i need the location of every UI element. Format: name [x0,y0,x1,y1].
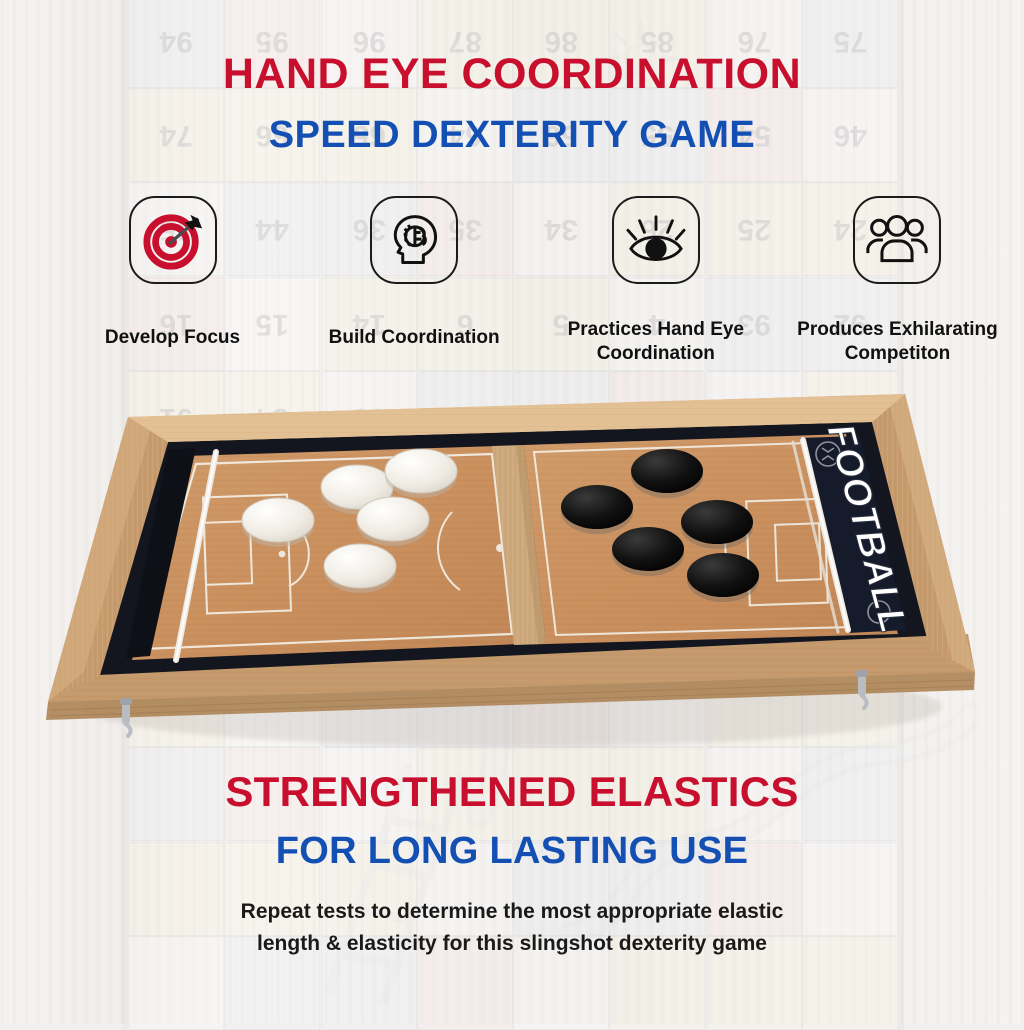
feature-build-coordination: Build Coordination [302,196,527,350]
eye-icon [625,212,687,268]
footer-note: Repeat tests to determine the most appro… [0,896,1024,959]
head-brain-gear-icon [384,210,444,270]
feature-label: Practices Hand Eye Coordination [548,318,763,366]
headline-primary: HAND EYE COORDINATION [0,50,1024,99]
footer-headline-secondary: FOR LONG LASTING USE [0,830,1024,873]
feature-label: Produces Exhilarating Competiton [790,318,1005,366]
feature-list: Develop Focus Build Coordination [60,196,1010,366]
feature-icon-card [612,196,700,284]
people-group-icon [866,215,928,265]
feature-label: Build Coordination [329,326,500,350]
feature-produces-competition: Produces Exhilarating Competiton [785,196,1010,366]
footer-note-line-1: Repeat tests to determine the most appro… [0,896,1024,928]
target-dartboard-icon [142,209,204,271]
feature-practices-hand-eye: Practices Hand Eye Coordination [543,196,768,366]
feature-icon-card [853,196,941,284]
headline-secondary: SPEED DEXTERITY GAME [0,114,1024,157]
footer-headline-primary: STRENGTHENED ELASTICS [0,768,1024,816]
feature-icon-card [370,196,458,284]
right-playfield: FOOTBALL [524,420,915,644]
feature-develop-focus: Develop Focus [60,196,285,350]
footer-note-line-2: length & elasticity for this slingshot d… [0,928,1024,960]
feature-icon-card [129,196,217,284]
slingshot-board-illustration: FOOTBALL [0,372,1024,792]
feature-label: Develop Focus [105,326,240,350]
left-playfield [126,446,520,660]
product-photo: FOOTBALL [0,372,1024,792]
